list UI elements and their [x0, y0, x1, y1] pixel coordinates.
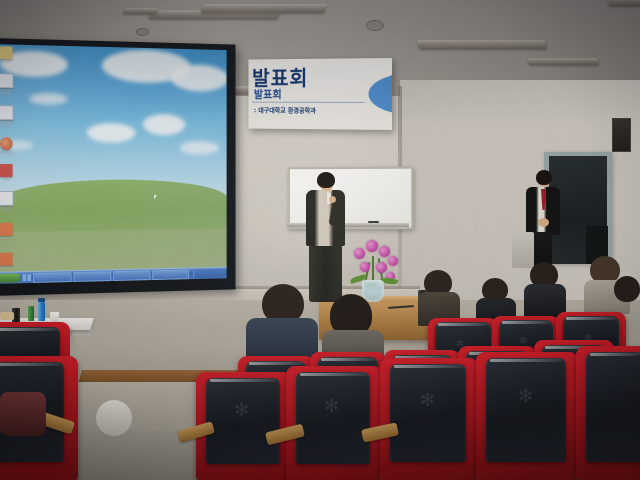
wall-speaker — [612, 118, 631, 152]
presenter-legs — [309, 244, 342, 302]
banner-organization: : 대구대학교 환경공학과 — [254, 105, 316, 115]
seat-logo: ✻ — [420, 396, 435, 406]
presenter-head — [317, 172, 335, 188]
projector-screen: 내 문서 Microsoft Word 문... Microsoft Word … — [0, 44, 227, 284]
auditorium-seat[interactable]: ✻ — [286, 366, 382, 480]
presenter-hand — [329, 196, 336, 203]
event-banner: 발표회 발표회 : 대구대학교 환경공학과 — [248, 58, 392, 130]
projection-glare — [0, 44, 227, 284]
banner-divider — [252, 102, 365, 103]
orchid-bloom — [388, 256, 398, 266]
water-bottle — [38, 302, 45, 321]
auditorium-seat[interactable]: ✻ — [196, 372, 292, 480]
attendee-shoulder — [0, 392, 46, 436]
orchid-bloom — [366, 240, 378, 252]
banner-swoosh-graphic — [345, 62, 392, 126]
beverage-can — [28, 306, 34, 321]
projector-screen-frame: 내 문서 Microsoft Word 문... Microsoft Word … — [0, 38, 236, 296]
paper-cup — [50, 312, 59, 322]
snack-tray — [0, 312, 14, 320]
attendee-head — [614, 276, 640, 302]
suited-man-hands — [538, 218, 549, 227]
whiteboard-marker — [368, 221, 379, 223]
banner-subtitle: 발표회 — [254, 86, 282, 101]
bottle-cap — [38, 298, 45, 302]
orchid-bloom — [354, 248, 365, 259]
ladder-chair — [512, 232, 534, 268]
seat-logo: ✻ — [234, 406, 249, 416]
seat-logo: ✻ — [324, 402, 339, 412]
photo-scene: 발표회 발표회 : 대구대학교 환경공학과 내 문서 — [0, 0, 640, 480]
auditorium-seat[interactable] — [576, 346, 640, 480]
auditorium-seat[interactable]: ✻ — [476, 352, 578, 480]
orchid-bloom — [360, 262, 370, 272]
orchid-bloom — [376, 262, 387, 273]
suited-man-head — [536, 170, 552, 185]
seat-logo: ✻ — [518, 392, 533, 402]
orchid-bloom — [379, 246, 390, 257]
attendee-bag — [96, 400, 132, 436]
auditorium-seat[interactable]: ✻ — [380, 358, 478, 480]
